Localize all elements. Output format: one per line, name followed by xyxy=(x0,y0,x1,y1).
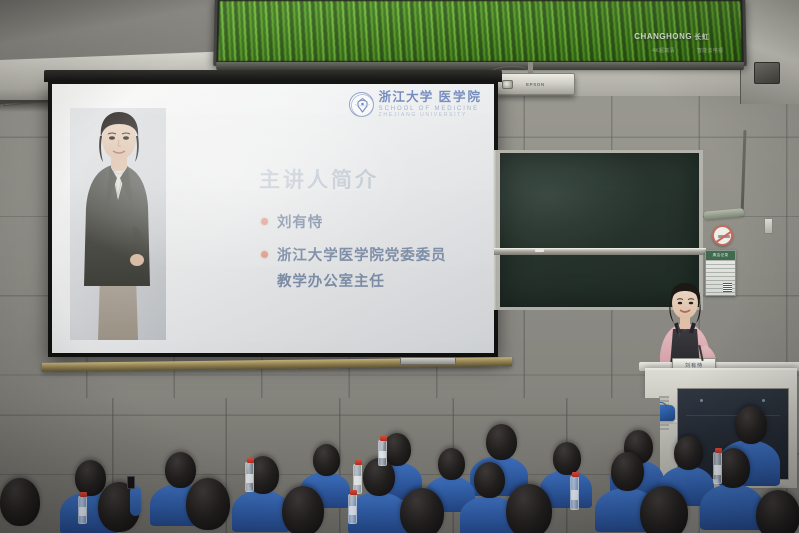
chalk-piece xyxy=(535,249,544,252)
audience-head xyxy=(186,478,230,530)
bottle-cap xyxy=(350,490,357,495)
audience-head xyxy=(506,484,552,533)
tv-brand-cn: 长虹 xyxy=(694,34,709,41)
bottle-cap xyxy=(80,492,87,497)
audience-head xyxy=(611,452,644,491)
tv-bottom-bezel xyxy=(216,62,744,70)
bottle-label xyxy=(79,507,86,515)
chalk-tray xyxy=(494,248,706,255)
light-switch[interactable] xyxy=(764,218,773,234)
bottle-cap xyxy=(380,436,387,441)
raised-arm xyxy=(130,486,141,516)
qr-code-icon xyxy=(723,283,732,292)
bullet-text: 刘有恃 xyxy=(277,212,323,234)
bullet-item: 刘有恃 xyxy=(261,212,446,234)
no-smoking-icon xyxy=(712,225,733,246)
tv-sub-label-2: 智能云电视 xyxy=(697,47,724,54)
bottle-label xyxy=(379,451,386,459)
logo-chinese-name: 浙江大学医学院 xyxy=(379,91,482,104)
projection-screen: 浙江大学医学院 SCHOOL OF MEDICINE ZHEJIANG UNIV… xyxy=(48,80,498,357)
audience-head xyxy=(0,478,40,526)
water-bottle xyxy=(713,452,722,484)
audience-head xyxy=(674,436,703,470)
wall-mounted-tv[interactable]: CHANGHONG长虹 4K超高清 智能云电视 xyxy=(213,0,747,66)
projector-lens-icon xyxy=(502,80,513,89)
zhejiang-university-logo: 浙江大学医学院 SCHOOL OF MEDICINE ZHEJIANG UNIV… xyxy=(349,91,482,118)
audience-head xyxy=(438,448,465,480)
bullet-dot-icon xyxy=(261,218,268,225)
bullet-item: 浙江大学医学院党委委员 教学办公室主任 xyxy=(261,245,446,293)
tv-sub-labels: 4K超高清 智能云电视 xyxy=(652,47,723,54)
ceiling-right-panel xyxy=(740,0,799,104)
audience-torso xyxy=(700,484,764,530)
logo-department-cn: 医学院 xyxy=(438,90,482,104)
audience-head xyxy=(553,442,581,475)
bottle-label xyxy=(354,476,361,485)
bottle-label xyxy=(246,474,253,483)
bottle-label xyxy=(349,506,356,515)
tv-brand-text: CHANGHONG xyxy=(634,32,692,41)
audience-head xyxy=(486,424,517,460)
bottle-label xyxy=(714,465,721,475)
tv-brand-label: CHANGHONG长虹 xyxy=(634,32,709,42)
bullet-dot-icon xyxy=(261,251,268,258)
audience-head xyxy=(474,462,505,498)
logo-university-cn: 浙江大学 xyxy=(379,90,434,104)
bottle-cap xyxy=(247,458,254,463)
student-audience xyxy=(0,400,799,533)
water-bottle xyxy=(245,462,254,492)
presentation-slide: 浙江大学医学院 SCHOOL OF MEDICINE ZHEJIANG UNIV… xyxy=(52,84,494,353)
audience-head xyxy=(282,486,324,533)
water-bottle xyxy=(78,496,87,524)
audience-head xyxy=(640,486,688,533)
speaker-portrait-photo xyxy=(70,108,166,340)
bottle-cap xyxy=(355,460,362,465)
audience-head xyxy=(313,444,340,476)
audience-head xyxy=(756,490,799,533)
slide-title: 主讲人简介 xyxy=(259,164,379,194)
audience-head xyxy=(735,406,767,444)
smartphone xyxy=(127,476,135,489)
logo-english-line2: ZHEJIANG UNIVERSITY xyxy=(379,113,482,118)
bullet-text-line2: 教学办公室主任 xyxy=(277,271,446,293)
ceiling-projector: EPSON xyxy=(495,73,575,95)
lecture-hall-scene: CHANGHONG长虹 4K超高清 智能云电视 EPSON xyxy=(0,0,799,533)
slide-bullet-list: 刘有恃 浙江大学医学院党委委员 教学办公室主任 xyxy=(261,212,446,304)
audience-head xyxy=(165,452,196,488)
water-bottle xyxy=(570,476,579,510)
water-bottle xyxy=(348,494,357,524)
ceiling-speaker xyxy=(754,62,780,84)
projector-brand-label: EPSON xyxy=(526,82,545,87)
ledge-bracket xyxy=(400,357,456,365)
bottle-label xyxy=(571,490,578,500)
audience-torso xyxy=(348,492,408,533)
university-crest-icon xyxy=(349,92,374,117)
audience-head xyxy=(400,488,444,533)
bottle-cap xyxy=(715,448,722,453)
water-bottle xyxy=(378,440,387,466)
tv-sub-label-1: 4K超高清 xyxy=(652,47,675,54)
notice-header: 清洁记录 xyxy=(706,251,735,260)
bullet-text-block: 浙江大学医学院党委委员 教学办公室主任 xyxy=(277,245,446,293)
audience-head xyxy=(75,460,106,496)
logo-english-line1: SCHOOL OF MEDICINE xyxy=(379,106,482,112)
logo-wordmark: 浙江大学医学院 SCHOOL OF MEDICINE ZHEJIANG UNIV… xyxy=(379,91,482,118)
bullet-text-line1: 浙江大学医学院党委委员 xyxy=(277,248,446,264)
bottle-cap xyxy=(572,472,579,477)
